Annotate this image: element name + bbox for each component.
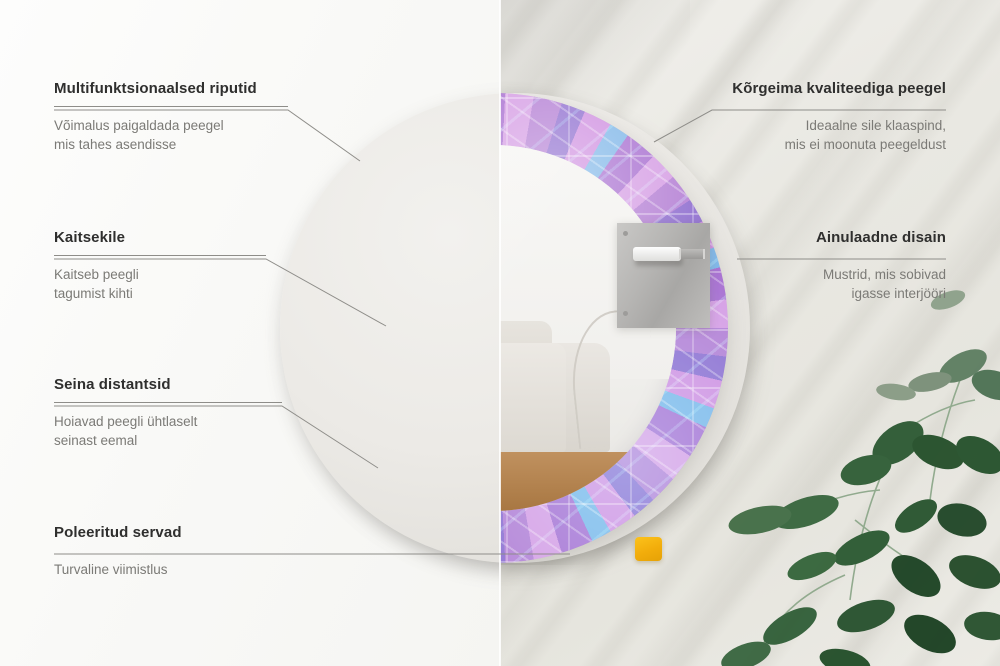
callout-rule (54, 402, 282, 403)
mirror-frame (500, 93, 728, 563)
callout-protective-film: Kaitsekile Kaitseb peegli tagumist kihti (54, 229, 266, 303)
callout-title: Multifunktsionaalsed riputid (54, 80, 288, 97)
callout-description: Võimalus paigaldada peegel mis tahes ase… (54, 116, 288, 154)
mirror-glass-reflection (500, 145, 676, 511)
callout-description: Ideaalne sile klaaspind, mis ei moonuta … (700, 116, 946, 154)
callout-description: Hoiavad peegli ühtlaselt seinast eemal (54, 412, 282, 450)
callout-title: Poleeritud servad (54, 524, 414, 541)
callout-title: Kaitsekile (54, 229, 266, 246)
hanger-screw-icon (623, 311, 628, 316)
product-infographic: Multifunktsionaalsed riputid Võimalus pa… (0, 0, 1000, 666)
callout-description: Kaitseb peegli tagumist kihti (54, 265, 266, 303)
hanger-screw-icon (623, 231, 628, 236)
panel-split-line (499, 0, 501, 666)
wall-hanger-detail (617, 223, 710, 328)
yellow-wall-spacer (635, 537, 662, 561)
callout-rule (54, 255, 266, 256)
hanger-bracket (633, 247, 681, 261)
callout-description: Mustrid, mis sobivad igasse interjööri (746, 265, 946, 303)
callout-multifunctional-hangers: Multifunktsionaalsed riputid Võimalus pa… (54, 80, 288, 154)
mirror-product (258, 75, 763, 565)
callout-description: Turvaline viimistlus (54, 560, 414, 579)
hanger-keyhole-slot (679, 249, 705, 259)
callout-highest-quality-mirror: Kõrgeima kvaliteediga peegel Ideaalne si… (700, 80, 946, 154)
callout-title: Ainulaadne disain (746, 229, 946, 246)
callout-polished-edges: Poleeritud servad Turvaline viimistlus (54, 524, 414, 579)
callout-title: Seina distantsid (54, 376, 282, 393)
callout-title: Kõrgeima kvaliteediga peegel (700, 80, 946, 97)
callout-rule (54, 106, 288, 107)
callout-wall-spacers: Seina distantsid Hoiavad peegli ühtlasel… (54, 376, 282, 450)
callout-unique-design: Ainulaadne disain Mustrid, mis sobivad i… (746, 229, 946, 303)
